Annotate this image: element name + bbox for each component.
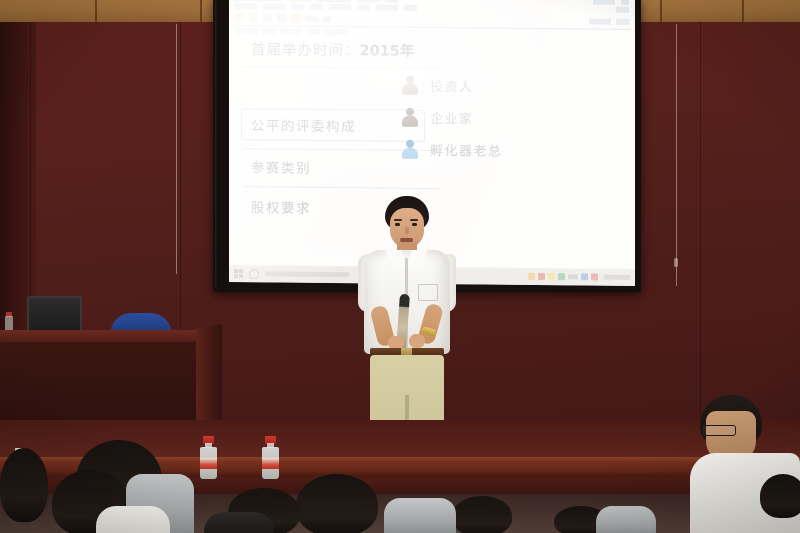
chair-back bbox=[384, 498, 456, 533]
system-tray[interactable] bbox=[528, 273, 630, 281]
judge-row-investor: 投资人 bbox=[401, 76, 474, 96]
slide-nav-item-equity[interactable]: 股权要求 bbox=[251, 196, 311, 217]
speaker-hand-right bbox=[409, 334, 425, 348]
presentation-photo-scene: 首届举办时间：2015年 公平的评委构成 参赛类别 股权要求 投资人 bbox=[0, 0, 800, 533]
water-bottle bbox=[200, 436, 217, 479]
tray-icon-7[interactable] bbox=[591, 274, 598, 281]
audience-head bbox=[0, 448, 48, 522]
audience-shoulders bbox=[204, 512, 274, 533]
slide-title-text: 首届举办时间： bbox=[251, 42, 360, 59]
hanging-cord-right bbox=[676, 24, 677, 286]
slide-nav-item-judges[interactable]: 公平的评委构成 bbox=[251, 114, 356, 135]
search-placeholder-text[interactable] bbox=[265, 271, 349, 277]
chair-back bbox=[596, 506, 656, 533]
tray-icon-6[interactable] bbox=[581, 273, 588, 280]
ribbon-icon-4[interactable] bbox=[277, 14, 286, 23]
tray-icon-1[interactable] bbox=[528, 273, 535, 280]
slide-nav-item-categories[interactable]: 参赛类别 bbox=[251, 156, 311, 177]
judge-label-investor: 投资人 bbox=[430, 76, 474, 95]
audience-shoulders bbox=[96, 506, 170, 533]
judge-row-incubator: 孵化器老总 bbox=[401, 140, 503, 160]
judge-label-entrepreneur: 企业家 bbox=[430, 108, 474, 127]
audience-head bbox=[452, 496, 512, 533]
shirt-pocket bbox=[418, 284, 438, 301]
judge-row-entrepreneur: 企业家 bbox=[401, 108, 474, 128]
taskbar-clock[interactable] bbox=[604, 275, 630, 280]
water-bottle bbox=[262, 436, 279, 479]
search-circle-icon[interactable] bbox=[249, 269, 259, 279]
slide-title-year: 2015年 bbox=[360, 43, 415, 60]
tray-icon-3[interactable] bbox=[548, 273, 555, 280]
hanging-cord-left bbox=[176, 24, 177, 274]
ribbon-icon-5[interactable] bbox=[291, 14, 300, 23]
ribbon-icon-2[interactable] bbox=[249, 13, 258, 22]
slide-title: 首届举办时间：2015年 bbox=[251, 38, 414, 61]
audience-head bbox=[296, 474, 378, 533]
cord-knot bbox=[674, 258, 678, 267]
ribbon-icon-1[interactable] bbox=[235, 13, 244, 22]
windows-start-icon[interactable] bbox=[234, 269, 243, 278]
ribbon-icon-3[interactable] bbox=[263, 13, 272, 22]
person-icon bbox=[401, 140, 418, 159]
audience-head bbox=[760, 474, 800, 518]
tray-icon-4[interactable] bbox=[558, 273, 565, 280]
eyeglasses-icon bbox=[702, 425, 736, 436]
tray-icon-2[interactable] bbox=[538, 273, 545, 280]
tray-icon-5[interactable] bbox=[568, 274, 578, 279]
person-icon bbox=[401, 108, 418, 127]
judge-label-incubator: 孵化器老总 bbox=[430, 140, 503, 160]
person-icon bbox=[401, 76, 418, 95]
